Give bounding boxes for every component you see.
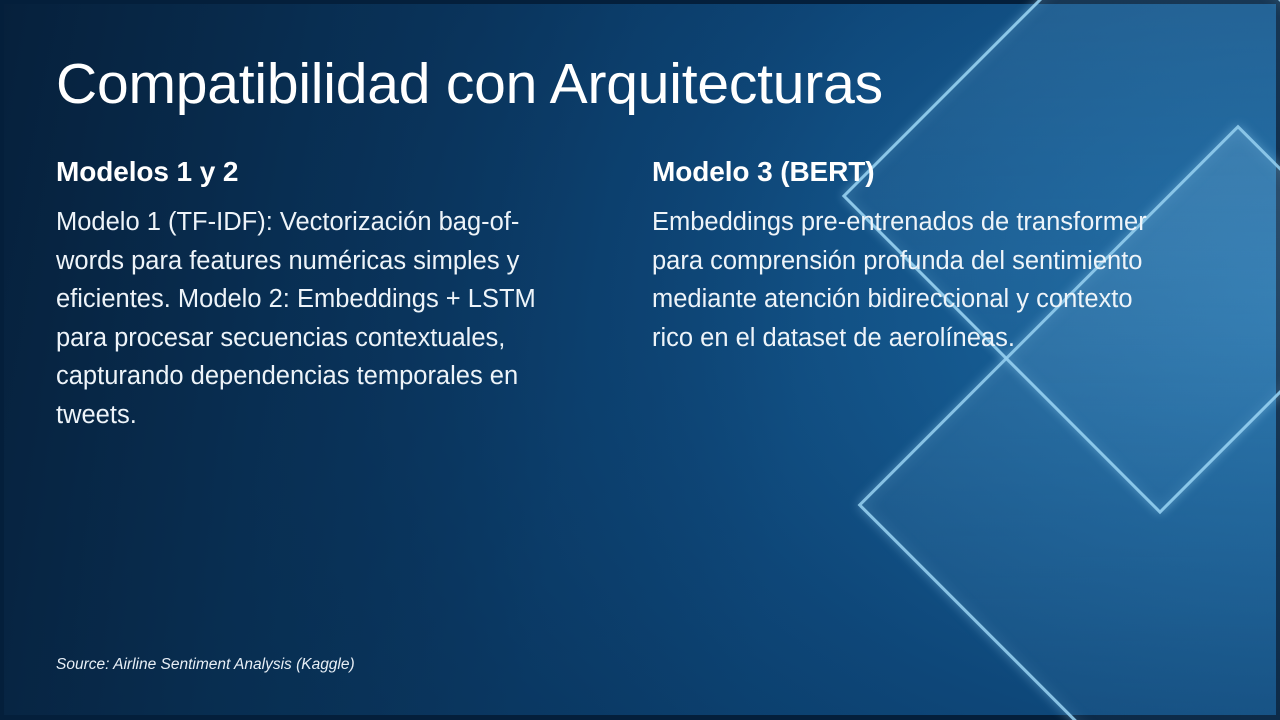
source-citation: Source: Airline Sentiment Analysis (Kagg… — [56, 654, 355, 676]
column-body-model-3-bert: Embeddings pre-entrenados de transformer… — [652, 203, 1170, 357]
slide-title: Compatibilidad con Arquitecturas — [56, 51, 1056, 117]
column-body-models-1-2: Modelo 1 (TF-IDF): Vectorización bag-of-… — [56, 203, 551, 434]
column-heading-model-3-bert: Modelo 3 (BERT) — [652, 155, 1172, 189]
content-column-right: Modelo 3 (BERT) Embeddings pre-entrenado… — [652, 155, 1172, 357]
content-column-left: Modelos 1 y 2 Modelo 1 (TF-IDF): Vectori… — [56, 155, 551, 434]
presentation-slide: Compatibilidad con Arquitecturas Modelos… — [0, 0, 1280, 720]
column-heading-models-1-2: Modelos 1 y 2 — [56, 155, 551, 189]
slide-content: Compatibilidad con Arquitecturas Modelos… — [0, 0, 1280, 720]
